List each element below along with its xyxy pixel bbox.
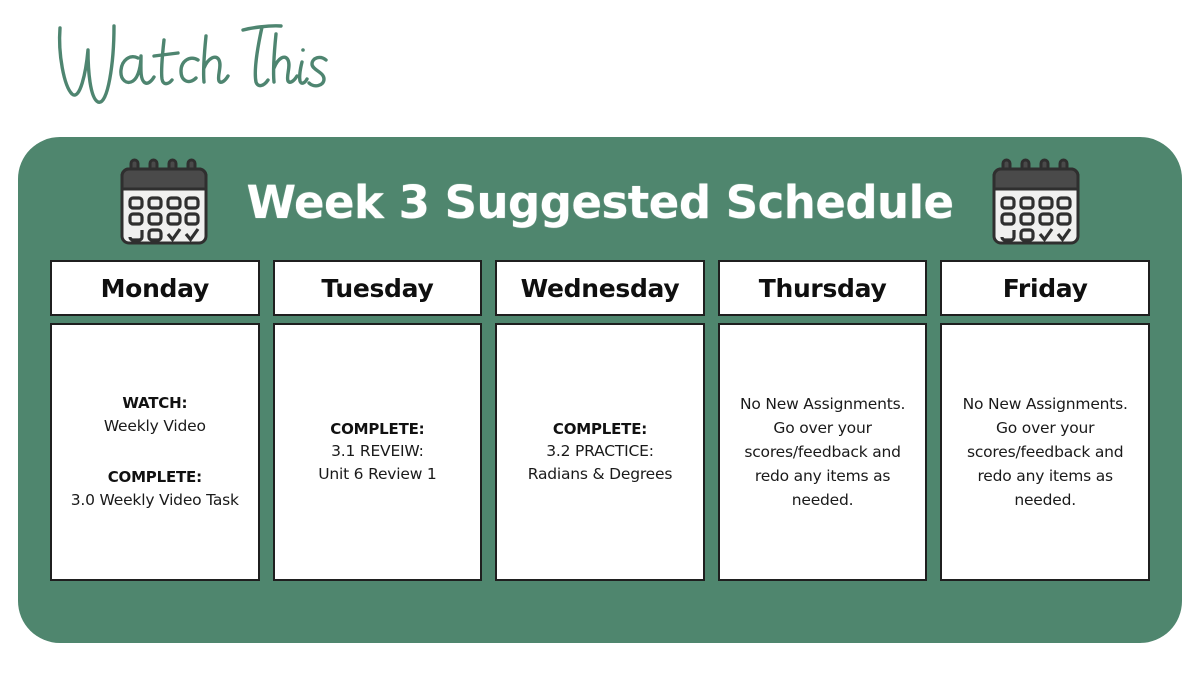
day-cell-tuesday: COMPLETE: 3.1 REVEIW:Unit 6 Review 1: [273, 323, 483, 581]
day-header-monday: Monday: [50, 260, 260, 316]
panel-header: Week 3 Suggested Schedule: [18, 147, 1182, 257]
day-header-tuesday: Tuesday: [273, 260, 483, 316]
day-label: Friday: [1003, 274, 1088, 303]
day-header-wednesday: Wednesday: [495, 260, 705, 316]
task-lead: COMPLETE:: [283, 418, 473, 441]
calendar-icon: [988, 156, 1084, 248]
task-block: COMPLETE: 3.2 PRACTICE:Radians & Degrees: [505, 418, 695, 487]
day-cell-friday: No New Assignments. Go over your scores/…: [940, 323, 1150, 581]
day-cell-monday: WATCH: Weekly Video COMPLETE: 3.0 Weekly…: [50, 323, 260, 581]
task-block: COMPLETE: 3.0 Weekly Video Task: [60, 466, 250, 512]
day-column-friday: Friday No New Assignments. Go over your …: [940, 260, 1150, 581]
day-cell-thursday: No New Assignments. Go over your scores/…: [718, 323, 928, 581]
task-block: COMPLETE: 3.1 REVEIW:Unit 6 Review 1: [283, 418, 473, 487]
task-lead: COMPLETE:: [60, 466, 250, 489]
task-text: 3.0 Weekly Video Task: [60, 489, 250, 512]
task-lead: WATCH:: [60, 392, 250, 415]
day-label: Wednesday: [521, 274, 680, 303]
week-grid: Monday WATCH: Weekly Video COMPLETE: 3.0…: [50, 260, 1150, 581]
day-column-tuesday: Tuesday COMPLETE: 3.1 REVEIW:Unit 6 Revi…: [273, 260, 483, 581]
schedule-panel: Week 3 Suggested Schedule: [18, 137, 1182, 643]
day-header-thursday: Thursday: [718, 260, 928, 316]
task-text: 3.1 REVEIW:Unit 6 Review 1: [283, 440, 473, 487]
day-label: Tuesday: [321, 274, 433, 303]
task-block: WATCH: Weekly Video: [60, 392, 250, 438]
page-title: Week 3 Suggested Schedule: [212, 176, 987, 229]
day-header-friday: Friday: [940, 260, 1150, 316]
day-column-wednesday: Wednesday COMPLETE: 3.2 PRACTICE:Radians…: [495, 260, 705, 581]
watch-this-heading: Watch This: [38, 6, 338, 116]
task-paragraph: No New Assignments. Go over your scores/…: [728, 392, 918, 512]
task-text: 3.2 PRACTICE:Radians & Degrees: [505, 440, 695, 487]
task-lead: COMPLETE:: [505, 418, 695, 441]
day-label: Monday: [101, 274, 209, 303]
day-column-thursday: Thursday No New Assignments. Go over you…: [718, 260, 928, 581]
day-label: Thursday: [759, 274, 887, 303]
task-text: Weekly Video: [60, 415, 250, 438]
day-column-monday: Monday WATCH: Weekly Video COMPLETE: 3.0…: [50, 260, 260, 581]
task-paragraph: No New Assignments. Go over your scores/…: [950, 392, 1140, 512]
calendar-icon: [116, 156, 212, 248]
day-cell-wednesday: COMPLETE: 3.2 PRACTICE:Radians & Degrees: [495, 323, 705, 581]
